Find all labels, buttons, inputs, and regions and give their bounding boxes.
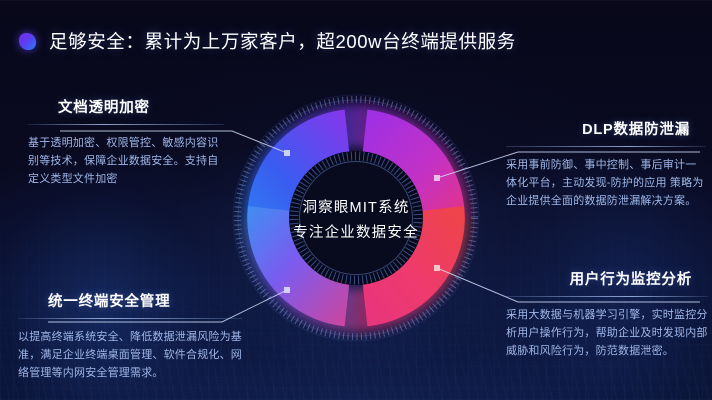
center-disc [303,165,409,271]
info-heading: DLP数据防泄漏 [506,118,690,139]
heading-underline [506,146,706,147]
info-block-dlp-data-leak-prevention[interactable]: DLP数据防泄漏 采用事前防御、事中控制、事后审计一体化平台，主动发现-防护的应… [506,118,706,210]
heading-underline [18,318,242,319]
gradient-blob-icon [19,33,36,50]
info-body: 以提高终端系统安全、降低数据泄漏风险为基准，满足企业终端桌面管理、软件合规化、网… [18,328,242,382]
info-heading: 用户行为监控分析 [506,268,692,289]
info-block-document-transparent-encryption[interactable]: 文档透明加密 基于透明加密、权限管控、敏感内容识别等技术，保障企业数据安全。支持… [28,96,224,188]
slide-header: 足够安全：累计为上万家客户，超200w台终端提供服务 [0,24,516,58]
info-body: 采用事前防御、事中控制、事后审计一体化平台，主动发现-防护的应用 策略为企业提供… [506,156,706,210]
top-divider [0,0,712,1]
donut-chart: 洞察眼MIT系统 专注企业数据安全 [216,78,496,358]
info-heading: 统一终端安全管理 [48,290,242,311]
heading-underline [506,296,708,297]
page-title: 足够安全：累计为上万家客户，超200w台终端提供服务 [49,28,516,54]
center-title-line2: 专注企业数据安全 [293,223,419,241]
info-heading: 文档透明加密 [58,96,224,117]
center-title-line1: 洞察眼MIT系统 [302,198,409,216]
info-body: 采用大数据与机器学习引擎，实时监控分析用户操作行为，帮助企业及时发现内部威胁和风… [506,306,708,360]
info-block-user-behavior-monitoring-analysis[interactable]: 用户行为监控分析 采用大数据与机器学习引擎，实时监控分析用户操作行为，帮助企业及… [506,268,708,360]
info-block-unified-endpoint-security-management[interactable]: 统一终端安全管理 以提高终端系统安全、降低数据泄漏风险为基准，满足企业终端桌面管… [18,290,242,382]
info-body: 基于透明加密、权限管控、敏感内容识别等技术，保障企业数据安全。支持自定义类型文件… [28,134,224,188]
heading-underline [28,124,224,125]
slide-canvas: 足够安全：累计为上万家客户，超200w台终端提供服务 [0,0,712,400]
